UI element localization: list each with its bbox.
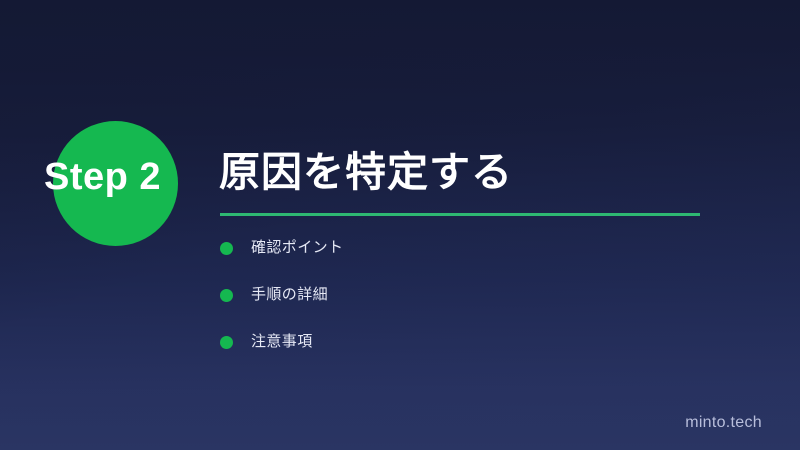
list-item: 確認ポイント — [220, 239, 343, 257]
list-item-label: 注意事項 — [251, 333, 313, 351]
bullet-dot-icon — [220, 336, 233, 349]
bullet-dot-icon — [220, 242, 233, 255]
list-item: 手順の詳細 — [220, 286, 343, 304]
bullet-dot-icon — [220, 289, 233, 302]
step-badge-label: Step 2 — [44, 157, 161, 197]
footer-brand: minto.tech — [685, 413, 762, 433]
list-item: 注意事項 — [220, 333, 343, 351]
list-item-label: 確認ポイント — [251, 239, 343, 257]
list-item-label: 手順の詳細 — [251, 286, 328, 304]
slide-title: 原因を特定する — [219, 148, 513, 196]
slide-canvas: Step 2 原因を特定する 確認ポイント 手順の詳細 注意事項 minto.t… — [0, 0, 800, 450]
bullet-list: 確認ポイント 手順の詳細 注意事項 — [220, 239, 343, 351]
title-divider — [220, 213, 700, 216]
